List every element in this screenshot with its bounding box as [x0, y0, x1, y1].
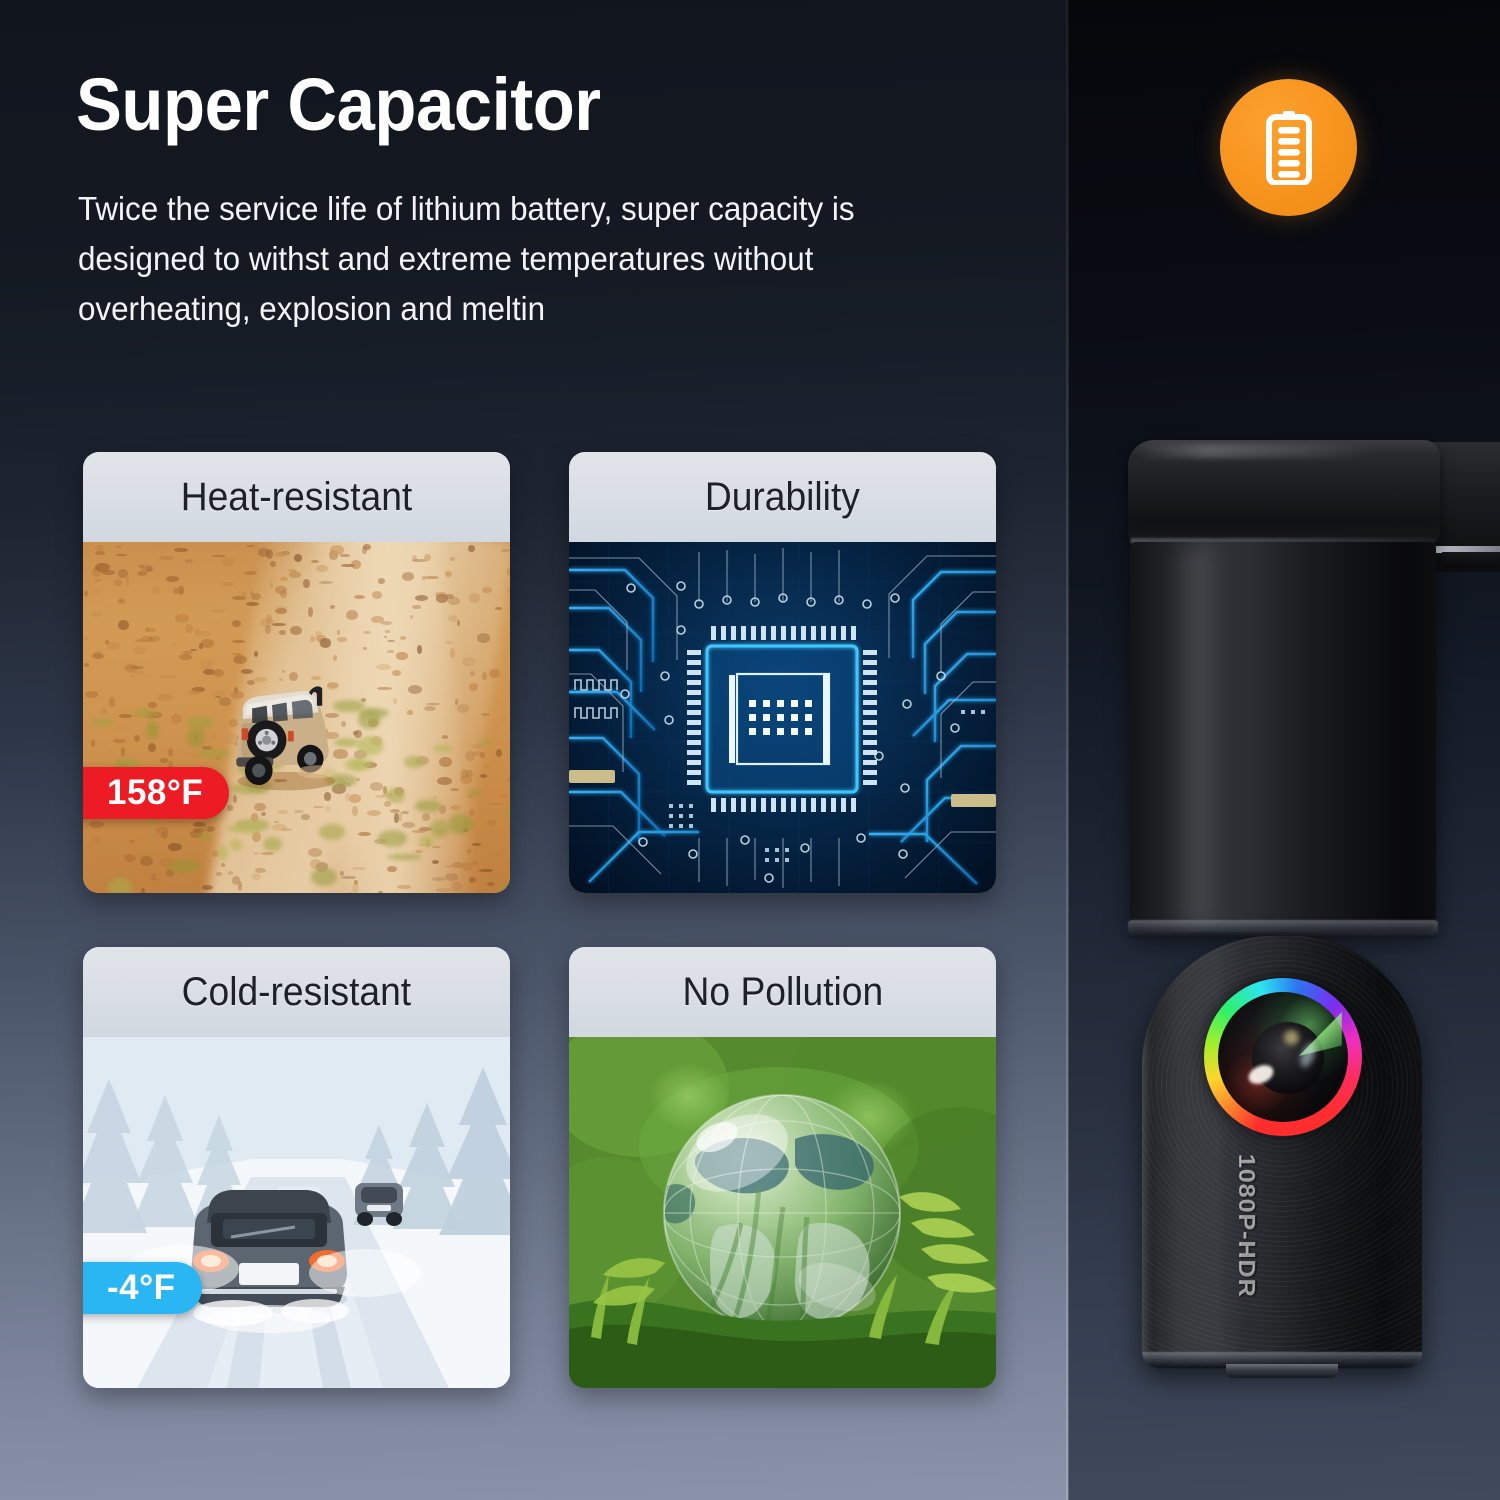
feature-card-cold-resistant[interactable]: Cold-resistant [83, 947, 510, 1388]
page-subtitle: Twice the service life of lithium batter… [78, 184, 971, 334]
feature-card-durability[interactable]: Durability [569, 452, 996, 893]
camera-foot-connector [1226, 1364, 1338, 1378]
card-image-snow: -4°F [83, 1037, 510, 1388]
housing-rim-light [1142, 936, 1152, 1366]
card-image-eco [569, 1037, 996, 1388]
temperature-badge-label: 158°F [107, 773, 203, 813]
temperature-badge-hot: 158°F [83, 767, 229, 819]
camera-lens [1204, 978, 1362, 1136]
card-header: Heat-resistant [83, 452, 510, 542]
lens-warm-flare [1284, 1030, 1299, 1045]
dash-camera-product: 1080P-HDR [1090, 420, 1500, 1420]
panel-divider [1066, 0, 1069, 1500]
card-title: No Pollution [682, 970, 883, 1015]
battery-icon [1264, 111, 1314, 185]
product-feature-graphic: Super Capacitor Twice the service life o… [0, 0, 1500, 1500]
card-title: Durability [705, 475, 860, 520]
camera-cap-sheen [1136, 444, 1376, 458]
feature-card-heat-resistant[interactable]: Heat-resistant [83, 452, 510, 893]
offroad-suv-illustration [207, 682, 361, 794]
camera-barrel-highlight [1168, 548, 1226, 924]
card-image-desert: 158°F [83, 542, 510, 893]
temperature-badge-cold: -4°F [83, 1262, 202, 1314]
lens-glass [1218, 992, 1348, 1122]
circuit-board-illustration [569, 542, 996, 893]
temperature-badge-label: -4°F [107, 1268, 176, 1308]
feature-card-no-pollution[interactable]: No Pollution [569, 947, 996, 1388]
card-header: Cold-resistant [83, 947, 510, 1037]
snowy-road-illustration [83, 1037, 510, 1388]
camera-mount-lower [1442, 552, 1500, 568]
battery-badge [1220, 79, 1357, 216]
camera-lens-housing: 1080P-HDR [1142, 936, 1422, 1366]
lens-resolution-label: 1080P-HDR [1233, 1154, 1260, 1298]
card-header: No Pollution [569, 947, 996, 1037]
card-title: Heat-resistant [181, 475, 413, 520]
card-title: Cold-resistant [182, 970, 411, 1015]
glass-globe-illustration [569, 1037, 996, 1388]
page-title: Super Capacitor [76, 68, 601, 142]
card-image-circuit [569, 542, 996, 893]
card-header: Durability [569, 452, 996, 542]
